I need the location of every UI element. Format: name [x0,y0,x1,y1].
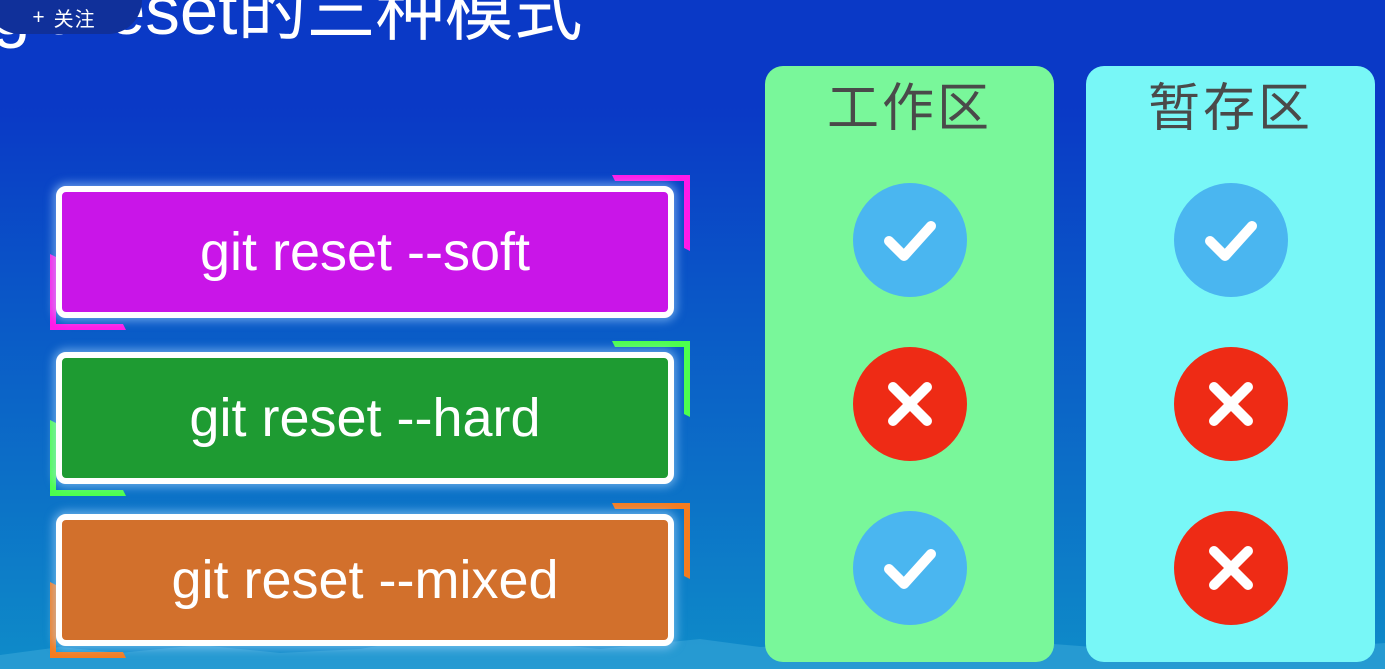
status-cell [765,158,1054,322]
check-circle-icon [1174,183,1288,297]
status-list [1086,140,1375,662]
cross-circle-icon [1174,511,1288,625]
check-circle-icon [853,183,967,297]
check-circle-icon [853,511,967,625]
command-box-soft[interactable]: git reset --soft [56,186,674,318]
cross-circle-icon [853,347,967,461]
slide-canvas: git reset的三种模式 + 关注 git reset --soft git… [0,0,1385,669]
panel-title: 工作区 [827,80,992,140]
command-label: git reset --hard [189,391,540,445]
status-cell [765,322,1054,486]
status-cell [1086,322,1375,486]
follow-badge[interactable]: + 关注 [0,0,142,34]
follow-badge-label: 关注 [54,10,96,30]
command-box-mixed[interactable]: git reset --mixed [56,514,674,646]
panel-staging-area: 暂存区 [1086,66,1375,662]
cross-circle-icon [1174,347,1288,461]
status-cell [765,486,1054,650]
command-label: git reset --mixed [171,553,558,607]
status-cell [1086,158,1375,322]
command-box-hard[interactable]: git reset --hard [56,352,674,484]
status-list [765,140,1054,662]
panel-title: 暂存区 [1148,80,1313,140]
command-row-soft[interactable]: git reset --soft [48,172,688,332]
command-label: git reset --soft [200,225,530,279]
command-row-hard[interactable]: git reset --hard [48,338,688,498]
plus-icon: + [32,7,44,28]
command-row-mixed[interactable]: git reset --mixed [48,500,688,660]
status-cell [1086,486,1375,650]
panel-working-directory: 工作区 [765,66,1054,662]
